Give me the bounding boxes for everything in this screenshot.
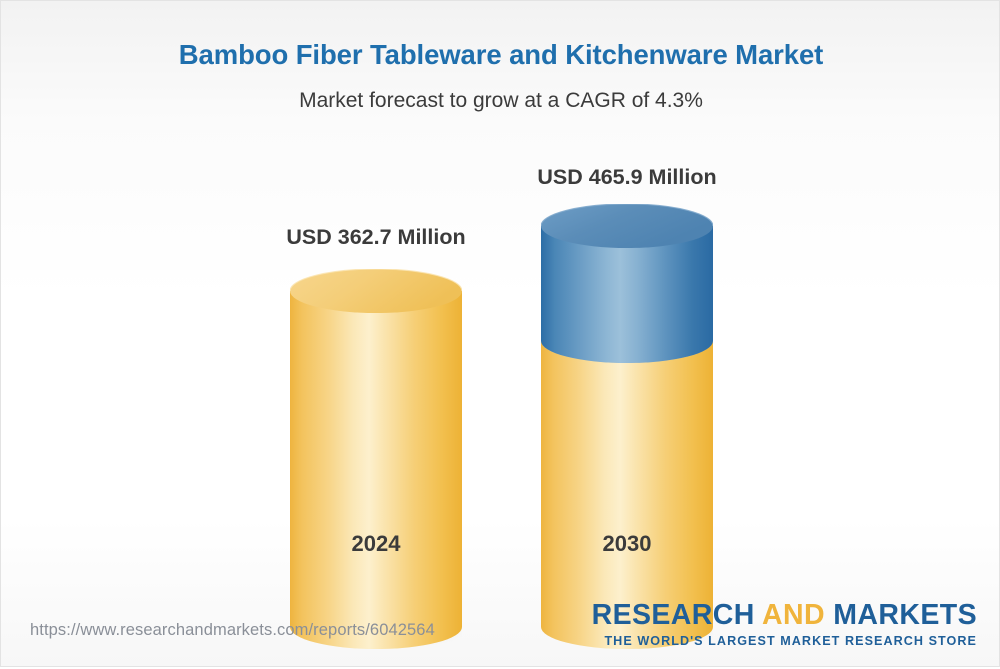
- logo-wordmark: RESEARCH AND MARKETS: [592, 601, 977, 631]
- year-label-2024: 2024: [250, 531, 502, 557]
- cylinder-2024: [290, 269, 462, 659]
- logo-tagline: THE WORLD'S LARGEST MARKET RESEARCH STOR…: [592, 634, 977, 648]
- value-label-2030: USD 465.9 Million: [451, 165, 803, 190]
- cylinder-body: [290, 291, 462, 649]
- report-url[interactable]: https://www.researchandmarkets.com/repor…: [30, 621, 435, 640]
- infographic-canvas: Bamboo Fiber Tableware and Kitchenware M…: [0, 0, 1000, 667]
- logo-text-markets: MARKETS: [825, 599, 977, 631]
- chart-plot-area: USD 362.7 Million: [1, 1, 1000, 668]
- year-label-2030: 2030: [501, 531, 753, 557]
- research-and-markets-logo[interactable]: RESEARCH AND MARKETS THE WORLD'S LARGEST…: [592, 601, 977, 648]
- logo-text-research: RESEARCH: [592, 599, 762, 631]
- logo-text-and: AND: [762, 599, 825, 631]
- cylinder-2030: [541, 204, 713, 659]
- value-label-2024: USD 362.7 Million: [200, 225, 552, 250]
